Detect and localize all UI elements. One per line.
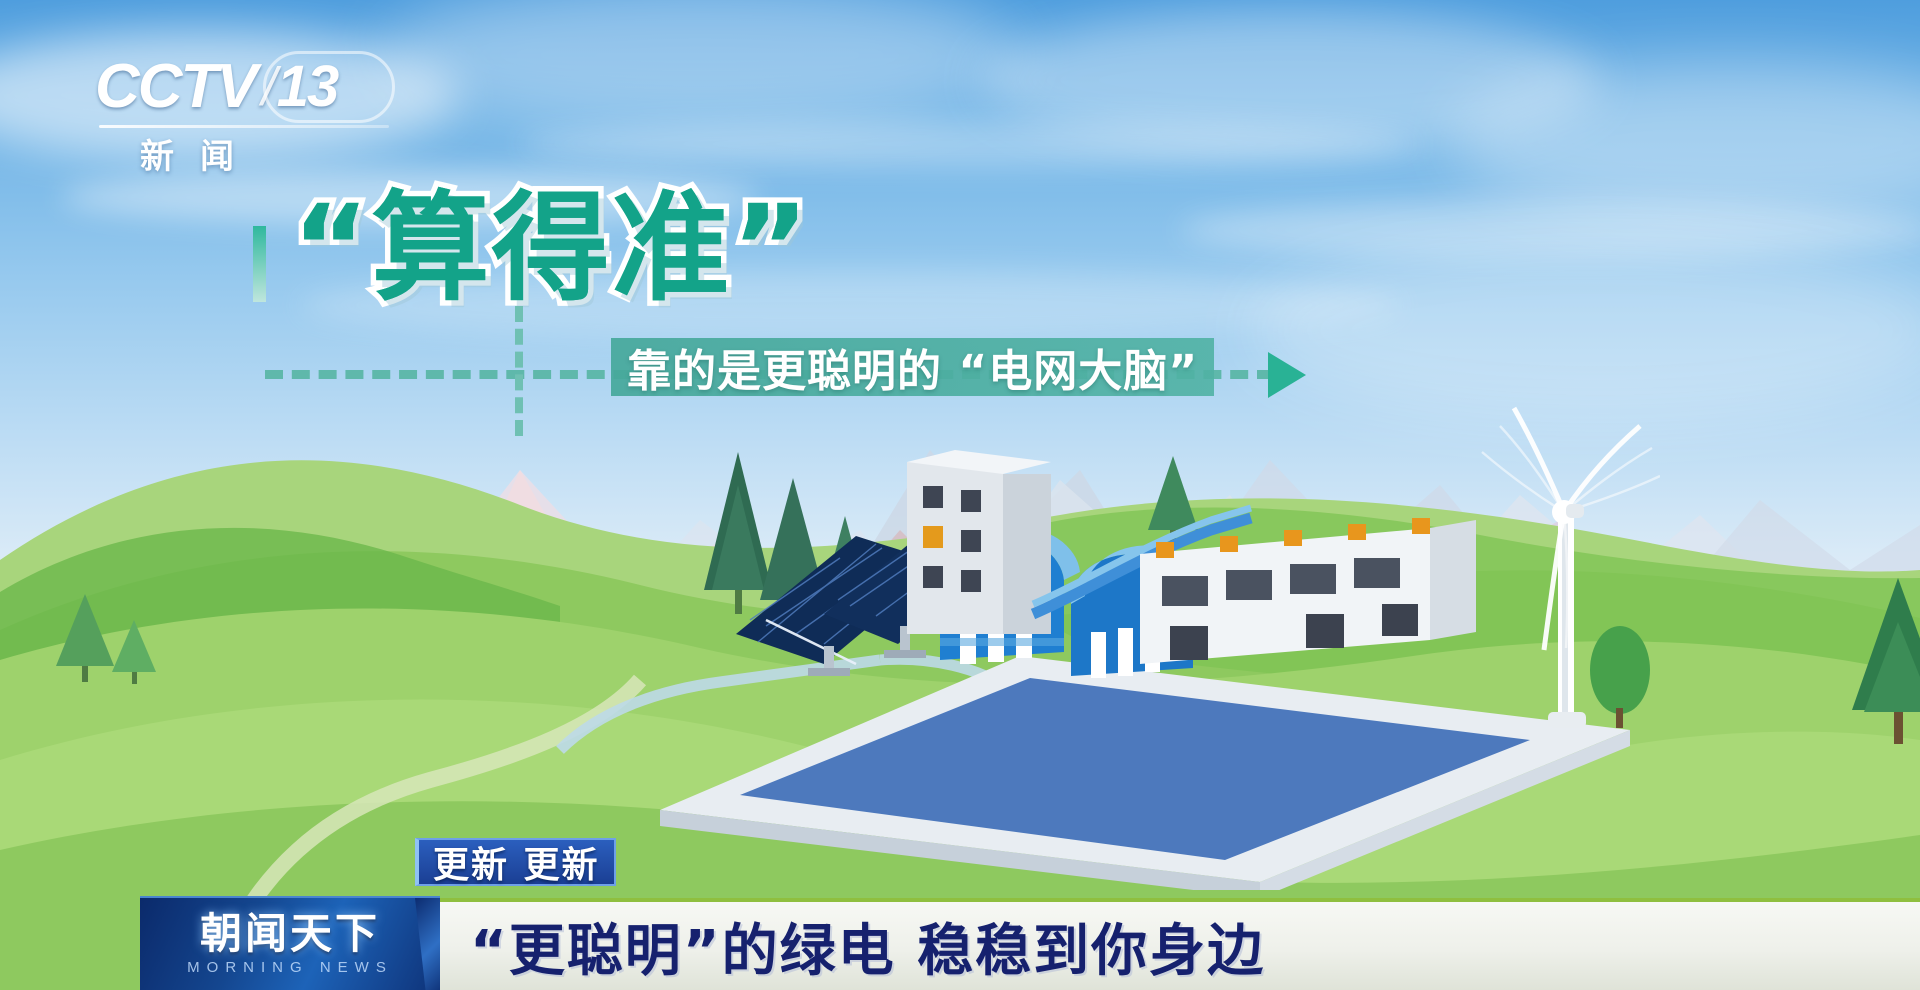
program-name-en: MORNING NEWS bbox=[187, 959, 393, 976]
logo-subtitle: 新闻 bbox=[140, 129, 260, 178]
main-headline: “算得准” bbox=[292, 152, 811, 323]
story-title: “更聪明”的绿电 稳稳到你身边 bbox=[470, 906, 1265, 987]
dashed-connector-line bbox=[515, 306, 523, 436]
subtitle-text: 靠的是更聪明的 “电网大脑” bbox=[627, 335, 1198, 399]
wind-turbine bbox=[1300, 400, 1660, 730]
pine-trees bbox=[40, 560, 170, 690]
lower-third: 朝闻天下 MORNING NEWS “更聪明”的绿电 稳稳到你身边 bbox=[0, 898, 1920, 990]
subtitle-banner: 靠的是更聪明的 “电网大脑” bbox=[611, 338, 1214, 396]
channel-logo: CCTV / 13 新闻 bbox=[95, 55, 395, 160]
arrow-head-icon bbox=[1268, 352, 1306, 398]
logo-underline bbox=[99, 125, 389, 128]
broadcast-frame: CCTV / 13 新闻 “算得准” “算得准” 靠的是更聪明的 “电网大脑” … bbox=[0, 0, 1920, 990]
program-logo: 朝闻天下 MORNING NEWS bbox=[140, 896, 440, 990]
status-badge: 更新 更新 bbox=[415, 838, 616, 886]
headline-accent-tick bbox=[253, 226, 266, 302]
logo-pill-frame bbox=[263, 51, 395, 123]
story-title-bar: “更聪明”的绿电 稳稳到你身边 bbox=[440, 898, 1920, 990]
cloud-decor bbox=[380, 0, 1020, 130]
logo-cctv-text: CCTV bbox=[95, 55, 256, 119]
program-name-cn: 朝闻天下 bbox=[200, 912, 380, 956]
status-badge-label: 更新 更新 bbox=[433, 836, 600, 888]
pine-trees bbox=[1830, 560, 1920, 750]
